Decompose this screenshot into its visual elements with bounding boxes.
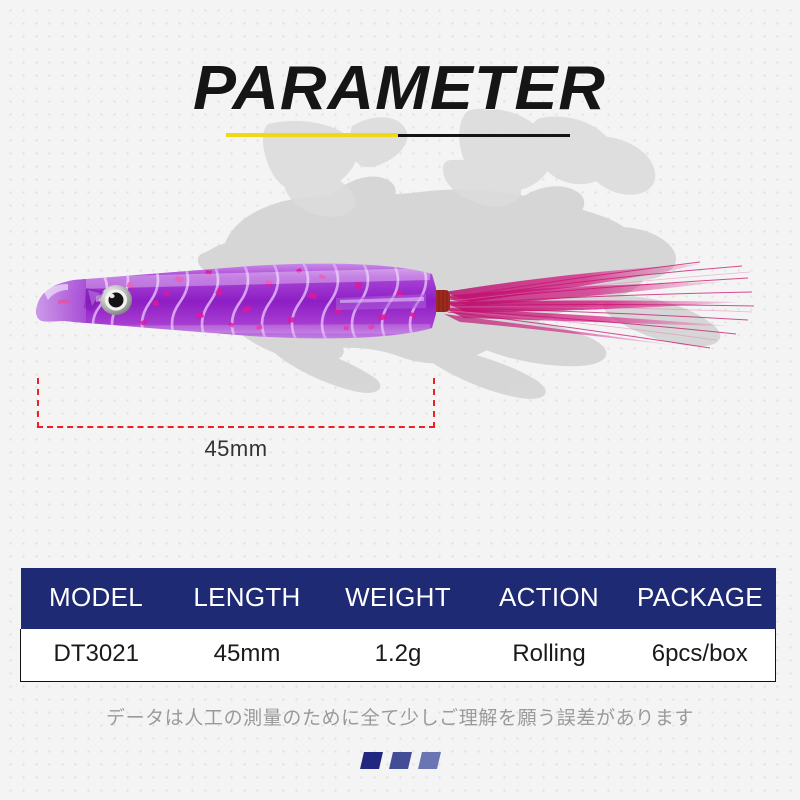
accent-bar-dark-segment — [398, 134, 570, 137]
product-image — [0, 230, 800, 370]
product-parameter-page: PARAMETER — [0, 0, 800, 800]
cell-package: 6pcs/box — [625, 629, 776, 682]
lure-tail-feather — [444, 262, 754, 348]
page-title-container: PARAMETER — [0, 58, 800, 120]
column-header-action: ACTION — [474, 568, 625, 629]
decoration-mark-1 — [360, 752, 383, 769]
cell-weight: 1.2g — [323, 629, 474, 682]
column-header-weight: WEIGHT — [323, 568, 474, 629]
fishing-jig-lure-illustration — [0, 230, 800, 370]
bottom-decoration — [0, 752, 800, 769]
disclaimer-note: データは人工の測量のために全て少しご理解を願う誤差があります — [0, 703, 800, 730]
column-header-model: MODEL — [21, 568, 172, 629]
column-header-length: LENGTH — [172, 568, 323, 629]
specification-table: MODEL LENGTH WEIGHT ACTION PACKAGE DT302… — [20, 568, 776, 682]
decoration-mark-2 — [389, 752, 412, 769]
table-header-row: MODEL LENGTH WEIGHT ACTION PACKAGE — [21, 568, 776, 629]
lure-body — [36, 258, 436, 370]
lure-eye — [100, 285, 132, 315]
accent-bar-yellow-segment — [226, 133, 398, 137]
page-title: PARAMETER — [194, 58, 607, 120]
cell-action: Rolling — [474, 629, 625, 682]
title-accent-bar — [226, 133, 570, 137]
decoration-mark-3 — [418, 752, 441, 769]
table-row: DT3021 45mm 1.2g Rolling 6pcs/box — [21, 629, 776, 682]
cell-model: DT3021 — [21, 629, 172, 682]
measurement-bracket — [37, 378, 435, 428]
column-header-package: PACKAGE — [625, 568, 776, 629]
cell-length: 45mm — [172, 629, 323, 682]
measurement-label: 45mm — [0, 436, 472, 462]
